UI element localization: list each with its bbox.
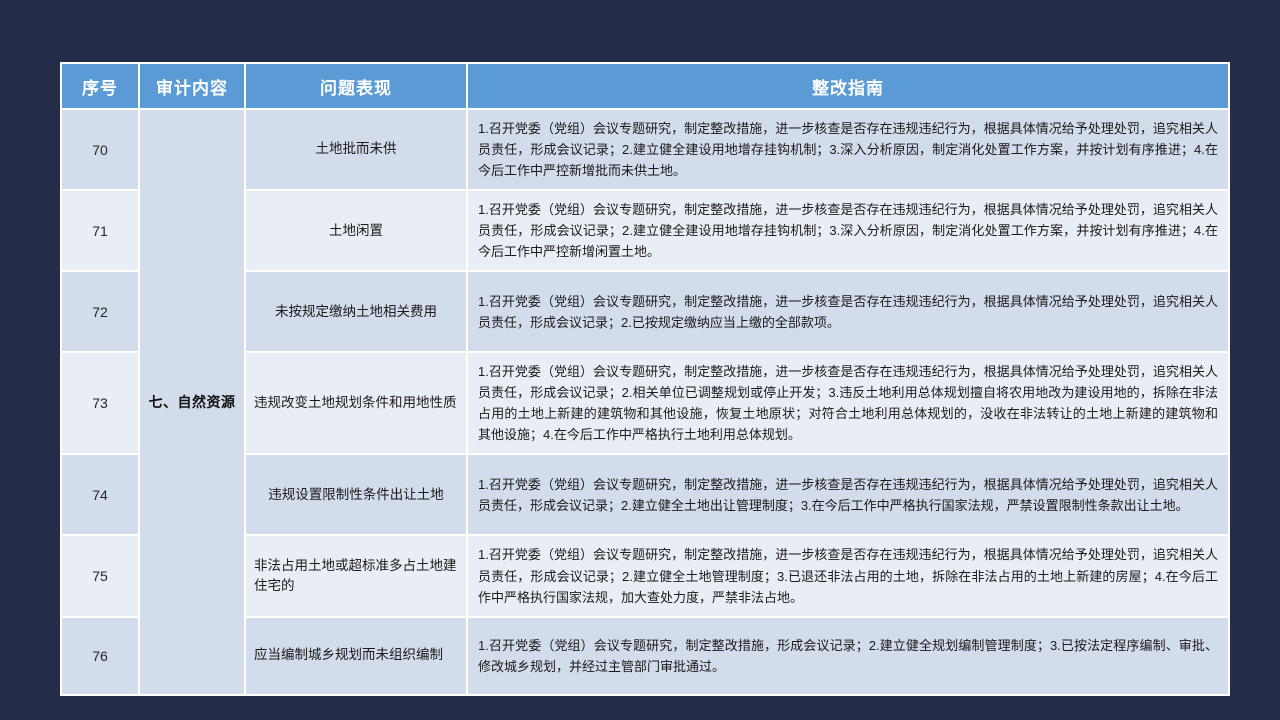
cell-issue: 未按规定缴纳土地相关费用: [246, 272, 466, 351]
audit-table-container: 序号 审计内容 问题表现 整改指南 70 七、自然资源 土地批而未供 1.召开党…: [60, 62, 1220, 658]
table-header: 序号 审计内容 问题表现 整改指南: [62, 64, 1228, 108]
cell-guide: 1.召开党委（党组）会议专题研究，制定整改措施，进一步核查是否存在违规违纪行为，…: [468, 536, 1228, 615]
cell-issue: 违规改变土地规划条件和用地性质: [246, 353, 466, 453]
cell-guide: 1.召开党委（党组）会议专题研究，制定整改措施，进一步核查是否存在违规违纪行为，…: [468, 272, 1228, 351]
table-header-row: 序号 审计内容 问题表现 整改指南: [62, 64, 1228, 108]
cell-issue: 非法占用土地或超标准多占土地建住宅的: [246, 536, 466, 615]
cell-issue: 应当编制城乡规划而未组织编制: [246, 618, 466, 694]
cell-issue: 违规设置限制性条件出让土地: [246, 455, 466, 534]
cell-guide: 1.召开党委（党组）会议专题研究，制定整改措施，形成会议记录；2.建立健全规划编…: [468, 618, 1228, 694]
audit-table: 序号 审计内容 问题表现 整改指南 70 七、自然资源 土地批而未供 1.召开党…: [60, 62, 1230, 696]
column-header-issue: 问题表现: [246, 64, 466, 108]
cell-guide: 1.召开党委（党组）会议专题研究，制定整改措施，进一步核查是否存在违规违纪行为，…: [468, 110, 1228, 189]
cell-seq: 74: [62, 455, 138, 534]
table-body: 70 七、自然资源 土地批而未供 1.召开党委（党组）会议专题研究，制定整改措施…: [62, 110, 1228, 694]
cell-guide: 1.召开党委（党组）会议专题研究，制定整改措施，进一步核查是否存在违规违纪行为，…: [468, 353, 1228, 453]
cell-seq: 73: [62, 353, 138, 453]
cell-seq: 76: [62, 618, 138, 694]
cell-guide: 1.召开党委（党组）会议专题研究，制定整改措施，进一步核查是否存在违规违纪行为，…: [468, 191, 1228, 270]
cell-seq: 75: [62, 536, 138, 615]
cell-seq: 71: [62, 191, 138, 270]
slide-canvas: 序号 审计内容 问题表现 整改指南 70 七、自然资源 土地批而未供 1.召开党…: [0, 0, 1280, 720]
cell-category-merged: 七、自然资源: [140, 110, 244, 694]
column-header-category: 审计内容: [140, 64, 244, 108]
cell-issue: 土地闲置: [246, 191, 466, 270]
cell-seq: 70: [62, 110, 138, 189]
table-row: 70 七、自然资源 土地批而未供 1.召开党委（党组）会议专题研究，制定整改措施…: [62, 110, 1228, 189]
cell-issue: 土地批而未供: [246, 110, 466, 189]
column-header-guide: 整改指南: [468, 64, 1228, 108]
column-header-seq: 序号: [62, 64, 138, 108]
cell-guide: 1.召开党委（党组）会议专题研究，制定整改措施，进一步核查是否存在违规违纪行为，…: [468, 455, 1228, 534]
cell-seq: 72: [62, 272, 138, 351]
